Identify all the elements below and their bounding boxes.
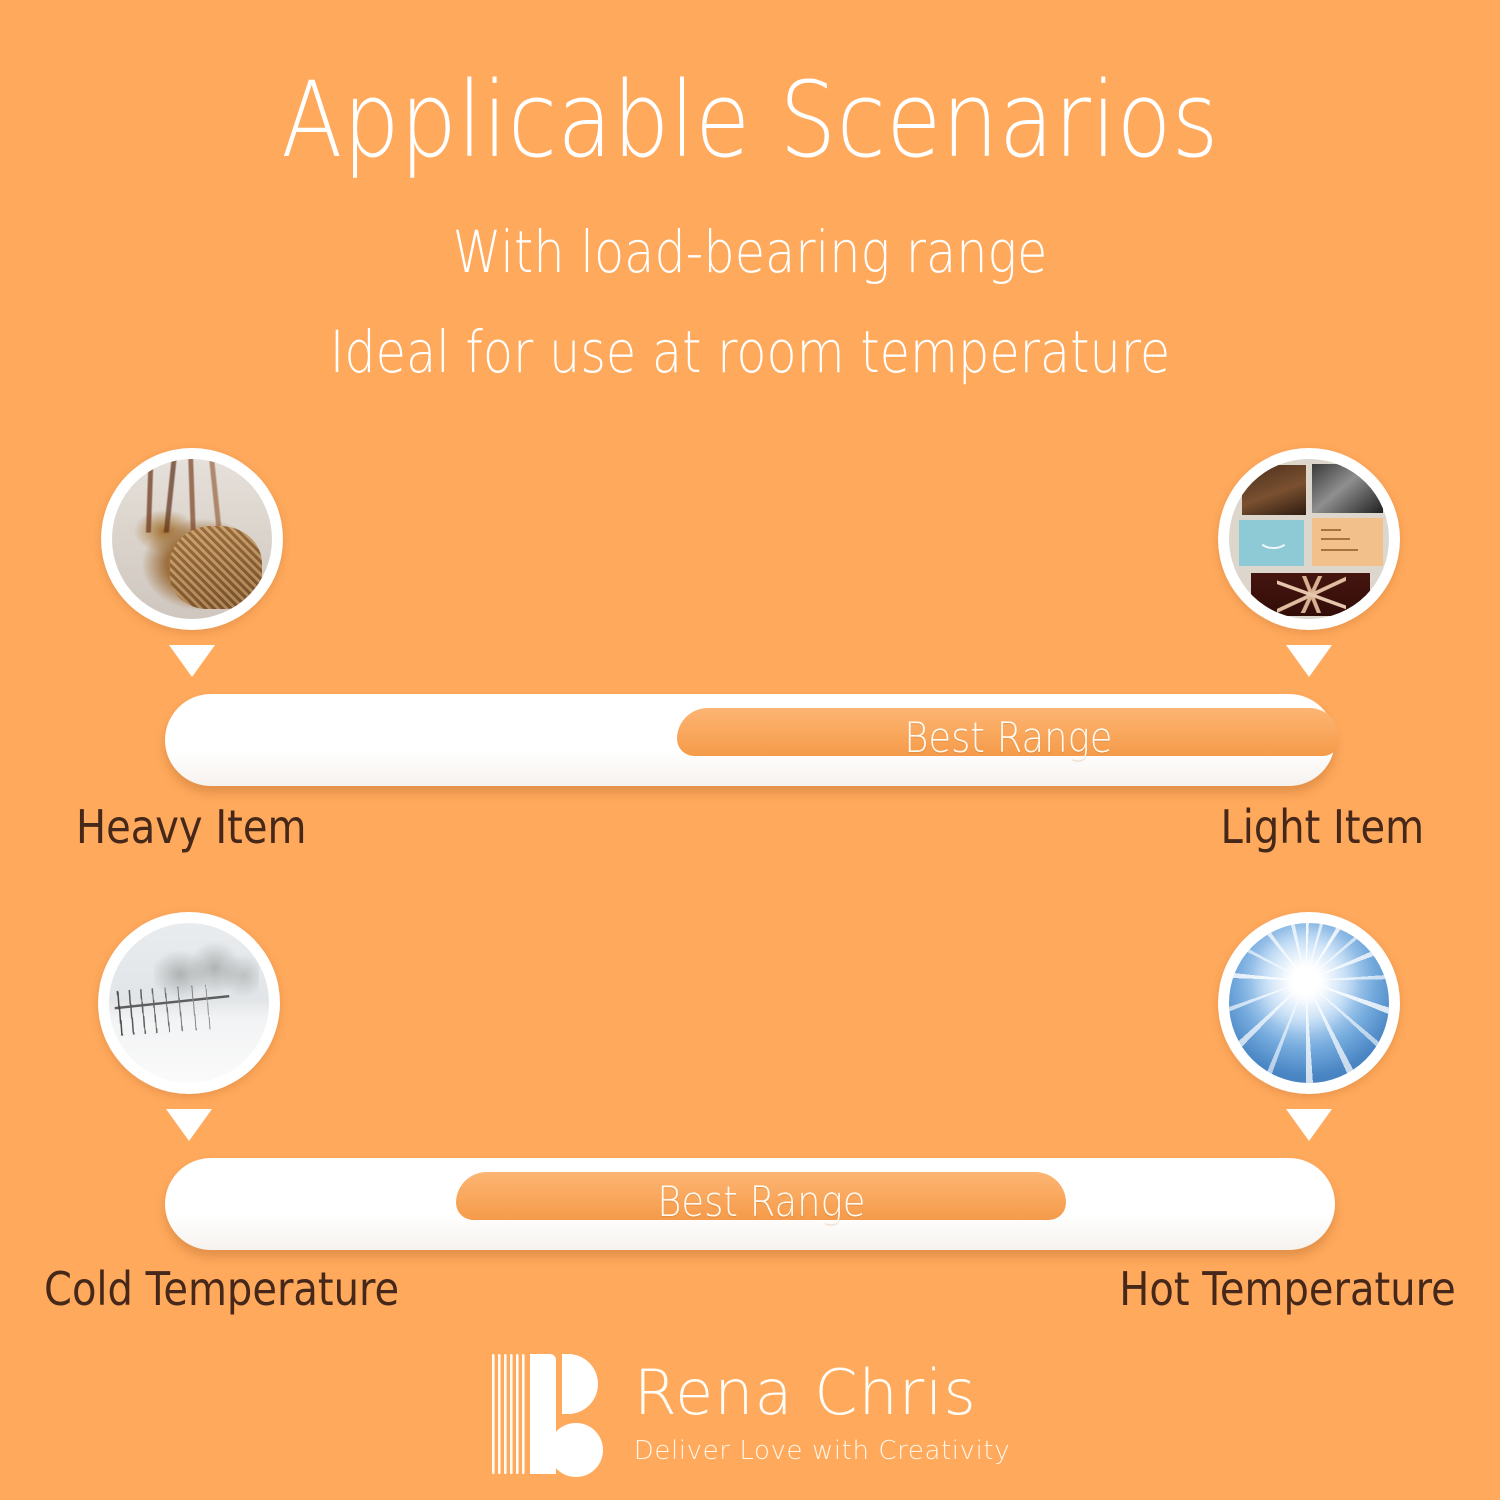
brand-footer: Rena Chris Deliver Love with Creativity <box>0 1352 1500 1480</box>
pointer-cold-temperature-icon <box>166 1109 212 1141</box>
thumbnail-hot-temperature <box>1218 912 1400 1094</box>
slider-left-label-cold-temperature: Cold Temperature <box>44 1262 399 1316</box>
sun-sky-photo-icon <box>1229 923 1389 1083</box>
slider-track-load-bearing[interactable]: Best Range <box>165 694 1335 786</box>
thumbnail-light-item <box>1218 448 1400 630</box>
slider-right-label-hot-temperature: Hot Temperature <box>1120 1262 1456 1316</box>
page-title: Applicable Scenarios <box>105 62 1395 178</box>
applicable-scenarios-infographic: Applicable Scenarios With load-bearing r… <box>0 0 1500 1500</box>
thumbnail-cold-temperature <box>98 912 280 1094</box>
thumbnail-heavy-item <box>101 448 283 630</box>
slider-fill-load-bearing[interactable]: Best Range <box>677 708 1340 772</box>
woven-bags-photo-icon <box>112 459 272 619</box>
heading-block: Applicable Scenarios With load-bearing r… <box>0 62 1500 388</box>
slider-fill-temperature[interactable]: Best Range <box>456 1172 1066 1236</box>
slider-track-temperature[interactable]: Best Range <box>165 1158 1335 1250</box>
subtitle-primary: With load-bearing range <box>113 218 1388 288</box>
pointer-light-item-icon <box>1286 645 1332 677</box>
slider-right-label-light-item: Light Item <box>1220 800 1424 854</box>
slider-fill-label: Best Range <box>657 1177 865 1226</box>
rena-chris-logo-icon <box>490 1352 608 1480</box>
subtitle-secondary: Ideal for use at room temperature <box>113 318 1388 388</box>
brand-tagline: Deliver Love with Creativity <box>634 1436 1010 1466</box>
slider-left-label-heavy-item: Heavy Item <box>76 800 306 854</box>
brand-name: Rena Chris <box>634 1362 1010 1424</box>
pointer-hot-temperature-icon <box>1286 1109 1332 1141</box>
wall-collage-photo-icon <box>1229 459 1389 619</box>
brand-text-block: Rena Chris Deliver Love with Creativity <box>634 1352 1010 1466</box>
pointer-heavy-item-icon <box>169 645 215 677</box>
snow-landscape-photo-icon <box>109 923 269 1083</box>
slider-fill-label: Best Range <box>904 713 1112 762</box>
